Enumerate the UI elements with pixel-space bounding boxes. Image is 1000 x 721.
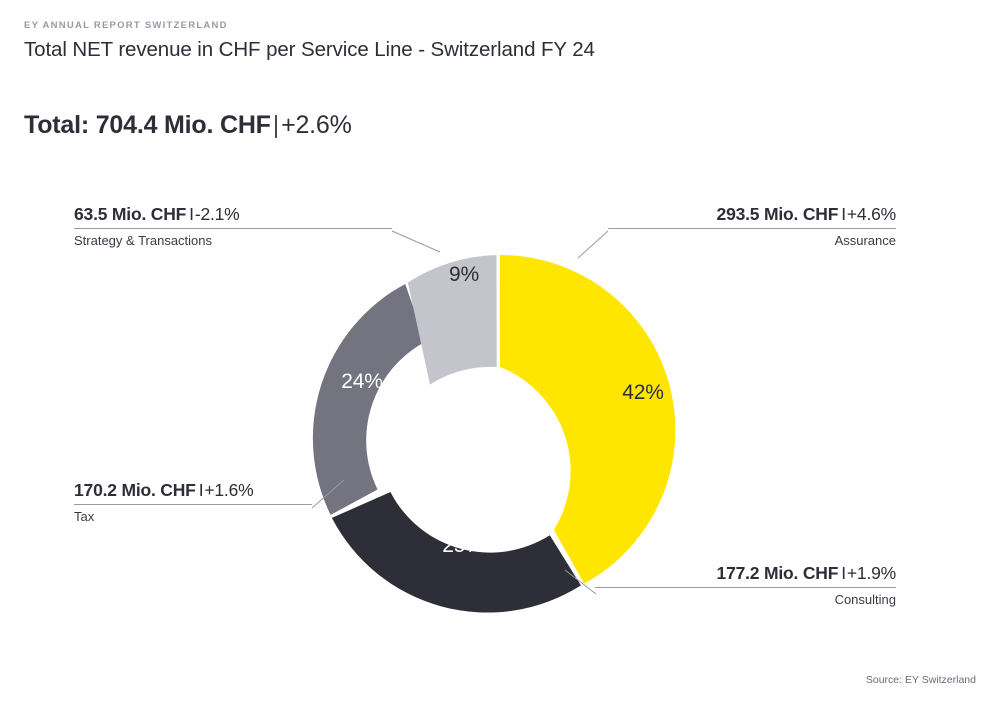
slice-label-strategy-transactions: 9% — [449, 263, 479, 286]
donut-chart: 42% 25% 24% 9% — [0, 0, 1000, 721]
callout-tax: 170.2 Mio. CHFI+1.6% Tax — [74, 479, 312, 525]
slice-assurance[interactable] — [500, 255, 675, 584]
callout-rule — [595, 587, 896, 588]
slice-label-consulting: 25% — [442, 534, 483, 557]
callout-separator: I — [186, 204, 195, 224]
callout-value: 170.2 Mio. CHF — [74, 480, 196, 500]
callout-rule — [74, 504, 312, 505]
callout-series-name: Consulting — [595, 592, 896, 608]
callout-value: 177.2 Mio. CHF — [717, 563, 839, 583]
callout-change: -2.1% — [195, 204, 240, 224]
callout-value-row: 63.5 Mio. CHFI-2.1% — [74, 203, 392, 225]
callout-separator: I — [838, 563, 847, 583]
slice-tax[interactable] — [313, 284, 425, 515]
callout-change: +1.9% — [847, 563, 896, 583]
leader-line-assurance — [578, 231, 608, 258]
callout-value: 63.5 Mio. CHF — [74, 204, 186, 224]
slice-label-tax: 24% — [341, 370, 382, 393]
leader-line-strategy-transactions — [392, 231, 440, 252]
callout-value-row: 170.2 Mio. CHFI+1.6% — [74, 479, 312, 501]
slice-label-assurance: 42% — [622, 381, 663, 404]
source-note: Source: EY Switzerland — [866, 674, 976, 686]
callout-consulting: 177.2 Mio. CHFI+1.9% Consulting — [595, 562, 896, 608]
donut-slices — [313, 255, 675, 613]
callout-rule — [74, 228, 392, 229]
callout-change: +1.6% — [204, 480, 253, 500]
callout-rule — [608, 228, 896, 229]
chart-page: EY ANNUAL REPORT SWITZERLAND Total NET r… — [0, 0, 1000, 721]
callout-value: 293.5 Mio. CHF — [717, 204, 839, 224]
callout-strategy-transactions: 63.5 Mio. CHFI-2.1% Strategy & Transacti… — [74, 203, 392, 249]
callout-value-row: 293.5 Mio. CHFI+4.6% — [608, 203, 896, 225]
donut-chart-svg: 42% 25% 24% 9% — [0, 0, 1000, 721]
callout-series-name: Tax — [74, 509, 312, 525]
callout-change: +4.6% — [847, 204, 896, 224]
callout-value-row: 177.2 Mio. CHFI+1.9% — [595, 562, 896, 584]
callout-series-name: Assurance — [608, 233, 896, 249]
callout-assurance: 293.5 Mio. CHFI+4.6% Assurance — [608, 203, 896, 249]
callout-separator: I — [838, 204, 847, 224]
callout-series-name: Strategy & Transactions — [74, 233, 392, 249]
